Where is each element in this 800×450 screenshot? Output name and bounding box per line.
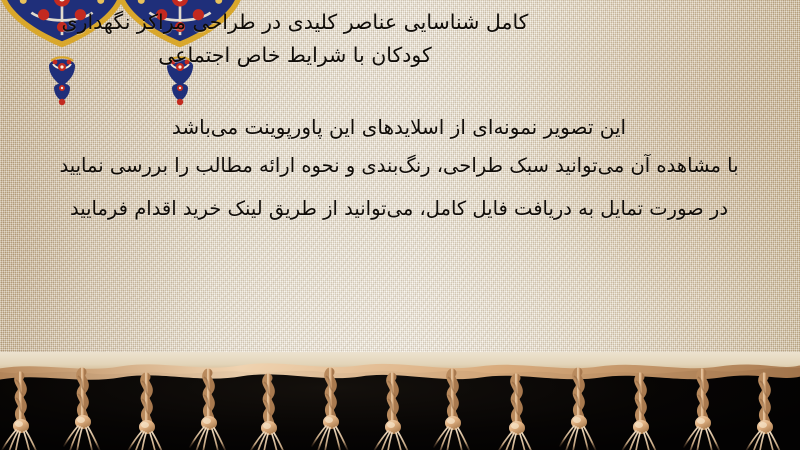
slide-body: این تصویر نمونه‌ای از اسلایدهای این پاور… [10,110,788,231]
title-line-2: کودکان با شرایط خاص اجتماعی [14,39,786,72]
slide-title: کامل شناسایی عناصر کلیدی در طراحی مراکز … [14,6,786,72]
body-line-3: در صورت تمایل به دریافت فایل کامل، می‌تو… [10,187,788,231]
body-line-1: این تصویر نمونه‌ای از اسلایدهای این پاور… [10,110,788,144]
body-line-2: با مشاهده آن می‌توانید سبک طراحی، رنگ‌بن… [10,144,788,187]
title-line-1: کامل شناسایی عناصر کلیدی در طراحی مراکز … [14,6,786,39]
slide-canvas: کامل شناسایی عناصر کلیدی در طراحی مراکز … [0,0,800,450]
text-layer: کامل شناسایی عناصر کلیدی در طراحی مراکز … [0,0,800,450]
